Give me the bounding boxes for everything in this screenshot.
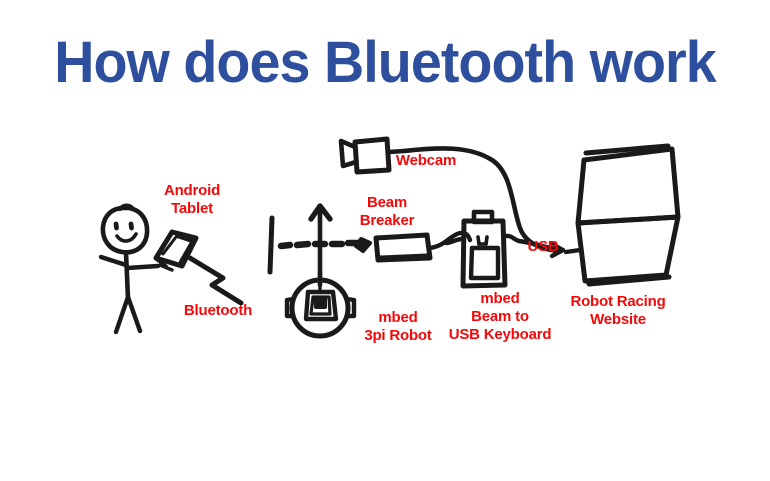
label-usb: USB [520, 238, 566, 256]
label-mbed-beam-to-usb-keyboard: mbed Beam to USB Keyboard [430, 290, 570, 344]
mbed-3pi-robot [287, 280, 354, 336]
bluetooth-lightning-bolt [190, 258, 241, 303]
beam-breaker-sensor-box [376, 235, 430, 260]
label-bluetooth: Bluetooth [172, 302, 264, 320]
label-robot-racing-website: Robot Racing Website [552, 293, 684, 329]
laptop-robot-racing-website [566, 146, 678, 284]
label-android-tablet: Android Tablet [140, 182, 244, 218]
label-mbed-3pi-robot: mbed 3pi Robot [356, 309, 440, 345]
system-diagram [0, 0, 770, 481]
infrared-beam-dashed-line [281, 239, 370, 251]
mbed-beam-to-usb-keyboard-device [446, 212, 519, 286]
stick-figure-person [101, 206, 158, 332]
label-webcam: Webcam [386, 152, 466, 170]
label-beam-breaker: Beam Breaker [345, 194, 429, 230]
beam-emitter-post [270, 218, 272, 272]
slide-canvas: How does Bluetooth work [0, 0, 770, 481]
android-tablet-device [156, 232, 196, 270]
